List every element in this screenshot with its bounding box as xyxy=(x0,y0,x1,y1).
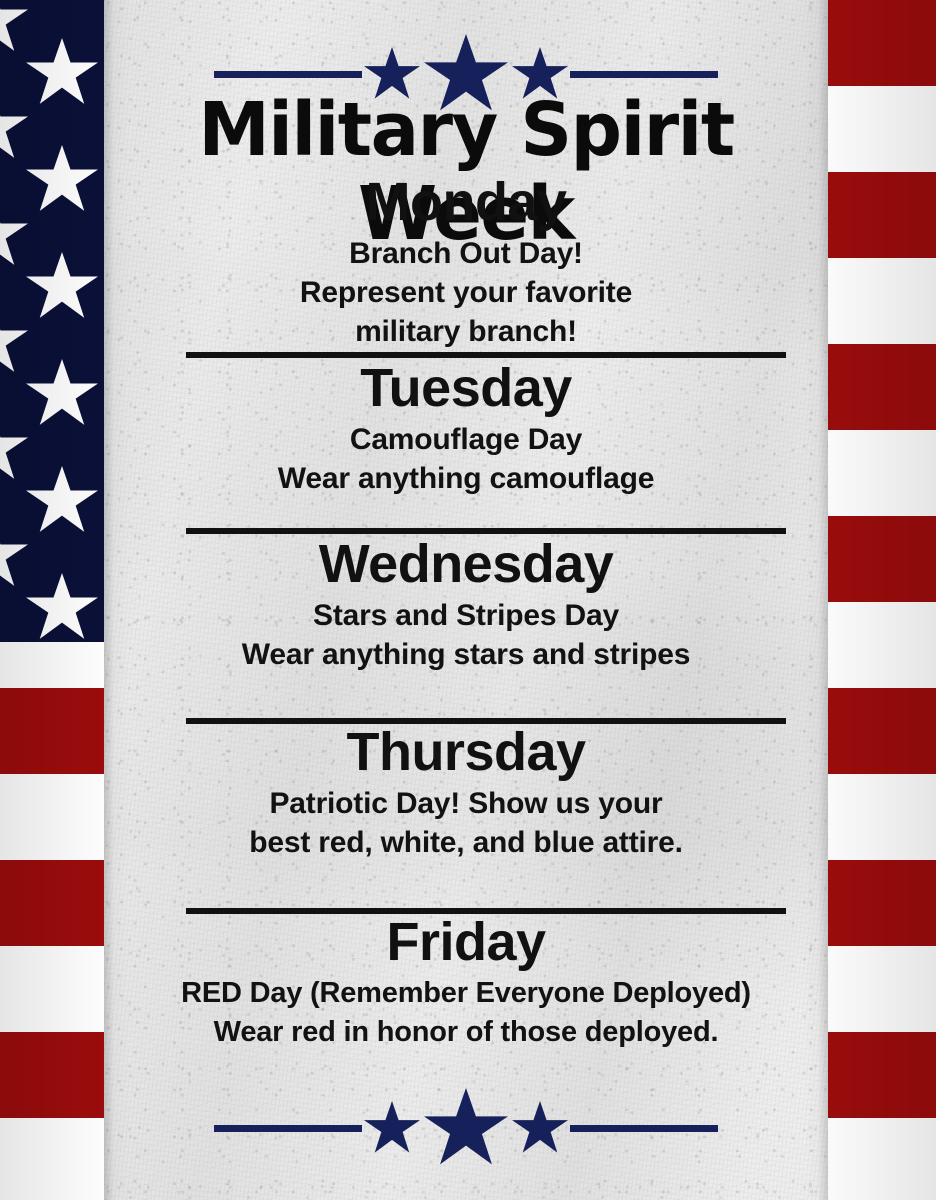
day-description-line: Represent your favorite xyxy=(104,273,828,312)
poster-root: Military Spirit Week MondayBranch Out Da… xyxy=(0,0,936,1200)
day-description: Patriotic Day! Show us yourbest red, whi… xyxy=(104,784,828,862)
day-description-line: Wear red in honor of those deployed. xyxy=(104,1013,828,1052)
day-name: Thursday xyxy=(104,722,828,782)
day-block-friday: FridayRED Day (Remember Everyone Deploye… xyxy=(104,912,828,1052)
day-block-wednesday: WednesdayStars and Stripes DayWear anyth… xyxy=(104,534,828,674)
bottom-ornament xyxy=(104,1088,828,1168)
bottom-star-large-center xyxy=(424,1088,508,1168)
bottom-ornament-right-rule xyxy=(570,1125,718,1132)
day-description: Camouflage DayWear anything camouflage xyxy=(104,420,828,498)
day-description-line: Wear anything stars and stripes xyxy=(104,635,828,674)
day-name: Friday xyxy=(104,912,828,972)
section-divider xyxy=(186,718,786,724)
day-name: Wednesday xyxy=(104,534,828,594)
bottom-ornament-left-rule xyxy=(214,1125,362,1132)
day-block-thursday: ThursdayPatriotic Day! Show us yourbest … xyxy=(104,722,828,862)
poster-content: Military Spirit Week MondayBranch Out Da… xyxy=(0,0,936,1200)
day-description: Stars and Stripes DayWear anything stars… xyxy=(104,596,828,674)
bottom-star-small-left xyxy=(364,1101,420,1155)
section-divider xyxy=(186,908,786,914)
section-divider xyxy=(186,528,786,534)
day-description-line: military branch! xyxy=(104,312,828,351)
top-ornament-left-rule xyxy=(214,71,362,78)
day-block-tuesday: TuesdayCamouflage DayWear anything camou… xyxy=(104,358,828,498)
day-description-line: RED Day (Remember Everyone Deployed) xyxy=(104,974,828,1013)
day-description-line: best red, white, and blue attire. xyxy=(104,823,828,862)
day-description-line: Wear anything camouflage xyxy=(104,459,828,498)
day-name: Tuesday xyxy=(104,358,828,418)
top-ornament-right-rule xyxy=(570,71,718,78)
day-description-line: Camouflage Day xyxy=(104,420,828,459)
day-description-line: Stars and Stripes Day xyxy=(104,596,828,635)
day-description: Branch Out Day!Represent your favoritemi… xyxy=(104,234,828,351)
day-description-line: Branch Out Day! xyxy=(104,234,828,273)
day-description: RED Day (Remember Everyone Deployed)Wear… xyxy=(104,974,828,1052)
bottom-star-small-right xyxy=(512,1101,568,1155)
section-divider xyxy=(186,352,786,358)
day-name: Monday xyxy=(104,172,828,232)
day-block-monday: MondayBranch Out Day!Represent your favo… xyxy=(104,172,828,351)
day-description-line: Patriotic Day! Show us your xyxy=(104,784,828,823)
